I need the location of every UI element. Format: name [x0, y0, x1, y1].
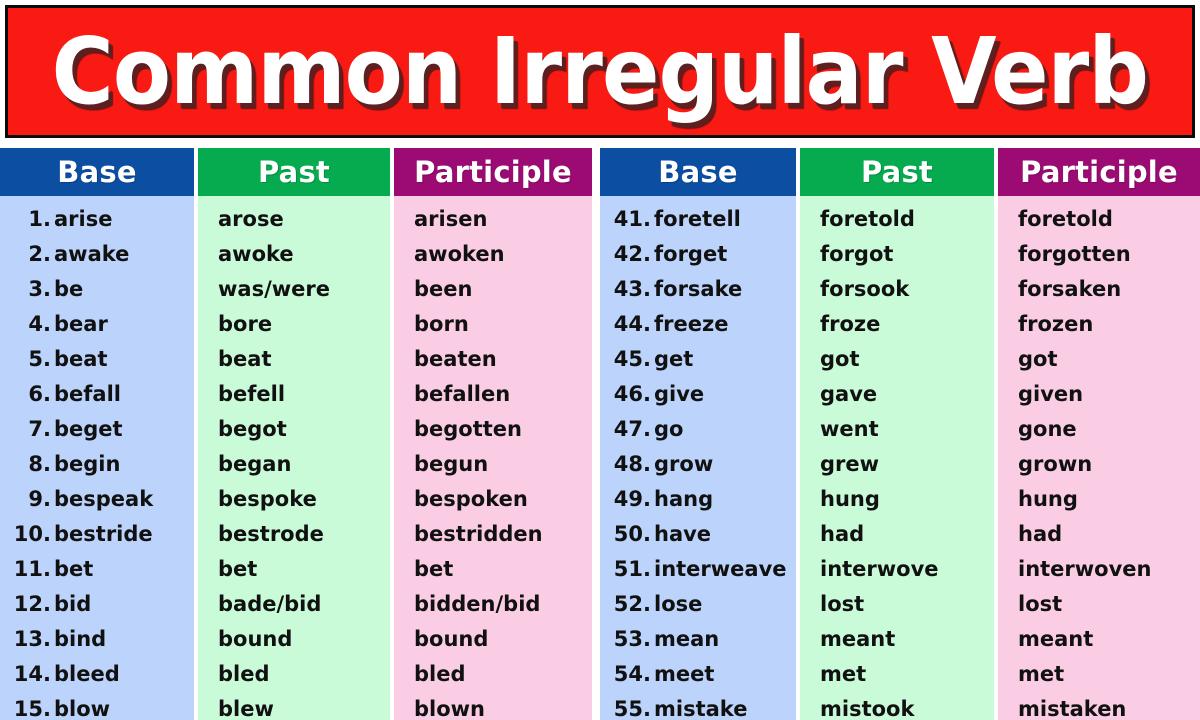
table-row: given: [998, 376, 1200, 411]
verb-past: hung: [820, 487, 880, 511]
verb-base: blow: [54, 697, 110, 720]
verb-past: went: [820, 417, 879, 441]
table-row: met: [800, 656, 994, 691]
right-column-participle: Participle foretoldforgottenforsakenfroz…: [998, 148, 1200, 720]
verb-past: meant: [820, 627, 895, 651]
verb-participle: blown: [414, 697, 485, 720]
table-row: 9.bespeak: [0, 481, 194, 516]
row-number: 51.: [608, 557, 654, 581]
verb-base: lose: [654, 592, 702, 616]
verb-past: forsook: [820, 277, 909, 301]
table-row: got: [998, 341, 1200, 376]
table-row: lost: [998, 586, 1200, 621]
verb-participle: bled: [414, 662, 466, 686]
row-number: 45.: [608, 347, 654, 371]
verb-base: mean: [654, 627, 719, 651]
verb-participle: bound: [414, 627, 488, 651]
verb-past: bet: [218, 557, 257, 581]
verb-participle: gone: [1018, 417, 1077, 441]
right-header-participle: Participle: [998, 148, 1200, 196]
verb-base: grow: [654, 452, 713, 476]
table-row: gave: [800, 376, 994, 411]
row-number: 47.: [608, 417, 654, 441]
verb-base: get: [654, 347, 693, 371]
row-number: 4.: [8, 312, 54, 336]
verb-base: foretell: [654, 207, 741, 231]
table-row: arose: [198, 201, 390, 236]
right-column-past: Past foretoldforgotforsookfrozegotgavewe…: [800, 148, 994, 720]
table-row: been: [394, 271, 592, 306]
right-body-base[interactable]: 41.foretell42.forget43.forsake44.freeze4…: [600, 196, 796, 720]
row-number: 14.: [8, 662, 54, 686]
verb-past: mistook: [820, 697, 914, 720]
table-row: meant: [800, 621, 994, 656]
verb-past: bore: [218, 312, 272, 336]
row-number: 10.: [8, 522, 54, 546]
row-number: 7.: [8, 417, 54, 441]
row-number: 52.: [608, 592, 654, 616]
table-row: began: [198, 446, 390, 481]
verb-participle: lost: [1018, 592, 1062, 616]
verb-past: had: [820, 522, 864, 546]
row-number: 8.: [8, 452, 54, 476]
verb-base: forget: [654, 242, 727, 266]
table-row: bestridden: [394, 516, 592, 551]
table-row: froze: [800, 306, 994, 341]
verb-past: met: [820, 662, 866, 686]
table-row: grew: [800, 446, 994, 481]
verb-participle: bestridden: [414, 522, 543, 546]
verb-base: beat: [54, 347, 107, 371]
table-row: beat: [198, 341, 390, 376]
table-row: 52.lose: [600, 586, 796, 621]
verb-past: froze: [820, 312, 880, 336]
verb-participle: awoken: [414, 242, 505, 266]
row-number: 6.: [8, 382, 54, 406]
table-row: bespoken: [394, 481, 592, 516]
verb-past: befell: [218, 382, 285, 406]
table-row: begot: [198, 411, 390, 446]
table-row: bound: [198, 621, 390, 656]
table-row: bet: [198, 551, 390, 586]
table-row: forgot: [800, 236, 994, 271]
verb-base: go: [654, 417, 683, 441]
table-row: foretold: [800, 201, 994, 236]
verb-base: hang: [654, 487, 713, 511]
table-row: 10.bestride: [0, 516, 194, 551]
table-row: 7.beget: [0, 411, 194, 446]
table-row: bet: [394, 551, 592, 586]
table-row: bore: [198, 306, 390, 341]
verb-participle: had: [1018, 522, 1062, 546]
right-body-past[interactable]: foretoldforgotforsookfrozegotgavewentgre…: [800, 196, 994, 720]
verb-participle: mistaken: [1018, 697, 1126, 720]
verb-participle: forsaken: [1018, 277, 1121, 301]
table-row: 41.foretell: [600, 201, 796, 236]
table-row: 13.bind: [0, 621, 194, 656]
verb-tables: Base 1.arise2.awake3.be4.bear5.beat6.bef…: [0, 148, 1200, 720]
table-row: 46.give: [600, 376, 796, 411]
table-row: 51.interweave: [600, 551, 796, 586]
verb-participle: interwoven: [1018, 557, 1152, 581]
table-row: begotten: [394, 411, 592, 446]
table-row: bidden/bid: [394, 586, 592, 621]
row-number: 12.: [8, 592, 54, 616]
table-row: interwoven: [998, 551, 1200, 586]
right-verb-table: Base 41.foretell42.forget43.forsake44.fr…: [600, 148, 1200, 720]
verb-base: interweave: [654, 557, 787, 581]
table-row: arisen: [394, 201, 592, 236]
verb-base: befall: [54, 382, 121, 406]
table-row: got: [800, 341, 994, 376]
table-row: blown: [394, 691, 592, 720]
table-row: 49.hang: [600, 481, 796, 516]
verb-base: bear: [54, 312, 108, 336]
verb-participle: frozen: [1018, 312, 1093, 336]
verb-participle: begotten: [414, 417, 522, 441]
table-row: 8.begin: [0, 446, 194, 481]
verb-participle: bet: [414, 557, 453, 581]
verb-participle: bidden/bid: [414, 592, 540, 616]
table-row: frozen: [998, 306, 1200, 341]
verb-past: gave: [820, 382, 877, 406]
verb-past: bade/bid: [218, 592, 321, 616]
verb-past: bled: [218, 662, 270, 686]
verb-past: arose: [218, 207, 284, 231]
verb-participle: grown: [1018, 452, 1092, 476]
verb-past: bespoke: [218, 487, 317, 511]
table-row: forsook: [800, 271, 994, 306]
table-row: awoken: [394, 236, 592, 271]
table-row: 15.blow: [0, 691, 194, 720]
table-row: bespoke: [198, 481, 390, 516]
table-row: born: [394, 306, 592, 341]
left-header-base: Base: [0, 148, 194, 196]
verb-base: begin: [54, 452, 120, 476]
left-header-past: Past: [198, 148, 390, 196]
table-row: befallen: [394, 376, 592, 411]
table-row: bled: [198, 656, 390, 691]
verb-base: have: [654, 522, 711, 546]
right-header-past: Past: [800, 148, 994, 196]
row-number: 50.: [608, 522, 654, 546]
table-row: lost: [800, 586, 994, 621]
verb-past: grew: [820, 452, 879, 476]
table-row: forsaken: [998, 271, 1200, 306]
verb-participle: bespoken: [414, 487, 528, 511]
verb-participle: forgotten: [1018, 242, 1131, 266]
verb-base: awake: [54, 242, 129, 266]
table-row: bound: [394, 621, 592, 656]
verb-past: interwove: [820, 557, 939, 581]
left-column-past: Past aroseawokewas/wereborebeatbefellbeg…: [198, 148, 390, 720]
verb-past: begot: [218, 417, 287, 441]
verb-participle: meant: [1018, 627, 1093, 651]
table-row: interwove: [800, 551, 994, 586]
verb-base: freeze: [654, 312, 728, 336]
verb-participle: been: [414, 277, 472, 301]
left-body-base[interactable]: 1.arise2.awake3.be4.bear5.beat6.befall7.…: [0, 196, 194, 720]
table-row: 45.get: [600, 341, 796, 376]
left-body-participle[interactable]: arisenawokenbeenbornbeatenbefallenbegott…: [394, 196, 592, 720]
table-row: 12.bid: [0, 586, 194, 621]
verb-base: bid: [54, 592, 91, 616]
table-row: 44.freeze: [600, 306, 796, 341]
table-row: 54.meet: [600, 656, 796, 691]
table-row: mistaken: [998, 691, 1200, 720]
verb-base: forsake: [654, 277, 742, 301]
left-column-participle: Participle arisenawokenbeenbornbeatenbef…: [394, 148, 592, 720]
row-number: 44.: [608, 312, 654, 336]
table-row: awoke: [198, 236, 390, 271]
table-row: went: [800, 411, 994, 446]
table-row: had: [800, 516, 994, 551]
table-row: forgotten: [998, 236, 1200, 271]
table-row: 1.arise: [0, 201, 194, 236]
verb-participle: hung: [1018, 487, 1078, 511]
page-title: Common Irregular Verb: [52, 26, 1148, 118]
row-number: 54.: [608, 662, 654, 686]
verb-participle: beaten: [414, 347, 497, 371]
verb-participle: begun: [414, 452, 488, 476]
table-row: bade/bid: [198, 586, 390, 621]
verb-participle: befallen: [414, 382, 510, 406]
table-row: befell: [198, 376, 390, 411]
row-number: 11.: [8, 557, 54, 581]
verb-base: be: [54, 277, 83, 301]
row-number: 41.: [608, 207, 654, 231]
row-number: 48.: [608, 452, 654, 476]
table-row: was/were: [198, 271, 390, 306]
table-row: bled: [394, 656, 592, 691]
verb-past: bound: [218, 627, 292, 651]
left-verb-table: Base 1.arise2.awake3.be4.bear5.beat6.bef…: [0, 148, 592, 720]
table-row: hung: [800, 481, 994, 516]
table-row: mistook: [800, 691, 994, 720]
table-row: 43.forsake: [600, 271, 796, 306]
row-number: 53.: [608, 627, 654, 651]
verb-past: began: [218, 452, 291, 476]
row-number: 5.: [8, 347, 54, 371]
row-number: 43.: [608, 277, 654, 301]
right-header-base: Base: [600, 148, 796, 196]
verb-past: lost: [820, 592, 864, 616]
table-row: 11.bet: [0, 551, 194, 586]
table-row: 2.awake: [0, 236, 194, 271]
right-column-base: Base 41.foretell42.forget43.forsake44.fr…: [600, 148, 796, 720]
row-number: 3.: [8, 277, 54, 301]
table-divider: [592, 148, 600, 720]
table-row: 5.beat: [0, 341, 194, 376]
table-row: 48.grow: [600, 446, 796, 481]
table-row: met: [998, 656, 1200, 691]
table-row: 42.forget: [600, 236, 796, 271]
table-row: blew: [198, 691, 390, 720]
row-number: 2.: [8, 242, 54, 266]
verb-base: arise: [54, 207, 112, 231]
verb-past: foretold: [820, 207, 915, 231]
table-row: 3.be: [0, 271, 194, 306]
row-number: 13.: [8, 627, 54, 651]
table-row: gone: [998, 411, 1200, 446]
verb-past: forgot: [820, 242, 893, 266]
verb-participle: given: [1018, 382, 1083, 406]
table-row: foretold: [998, 201, 1200, 236]
row-number: 9.: [8, 487, 54, 511]
table-row: meant: [998, 621, 1200, 656]
verb-past: awoke: [218, 242, 294, 266]
verb-participle: met: [1018, 662, 1064, 686]
verb-past: got: [820, 347, 860, 371]
verb-base: mistake: [654, 697, 747, 720]
verb-past: bestrode: [218, 522, 324, 546]
table-row: 47.go: [600, 411, 796, 446]
page-root: Common Irregular Verb Base 1.arise2.awak…: [0, 0, 1200, 720]
right-body-participle[interactable]: foretoldforgottenforsakenfrozengotgiveng…: [998, 196, 1200, 720]
verb-participle: born: [414, 312, 469, 336]
verb-base: beget: [54, 417, 123, 441]
row-number: 1.: [8, 207, 54, 231]
row-number: 46.: [608, 382, 654, 406]
table-row: hung: [998, 481, 1200, 516]
verb-base: bestride: [54, 522, 153, 546]
left-column-base: Base 1.arise2.awake3.be4.bear5.beat6.bef…: [0, 148, 194, 720]
verb-base: bet: [54, 557, 93, 581]
verb-base: bespeak: [54, 487, 153, 511]
table-row: beaten: [394, 341, 592, 376]
row-number: 42.: [608, 242, 654, 266]
verb-past: blew: [218, 697, 274, 720]
verb-participle: got: [1018, 347, 1058, 371]
row-number: 15.: [8, 697, 54, 720]
table-row: had: [998, 516, 1200, 551]
title-banner: Common Irregular Verb: [5, 5, 1195, 138]
table-row: 14.bleed: [0, 656, 194, 691]
left-header-participle: Participle: [394, 148, 592, 196]
verb-past: beat: [218, 347, 271, 371]
table-row: grown: [998, 446, 1200, 481]
table-row: begun: [394, 446, 592, 481]
verb-past: was/were: [218, 277, 330, 301]
table-row: 4.bear: [0, 306, 194, 341]
verb-base: bleed: [54, 662, 120, 686]
table-row: bestrode: [198, 516, 390, 551]
table-row: 6.befall: [0, 376, 194, 411]
row-number: 49.: [608, 487, 654, 511]
verb-participle: foretold: [1018, 207, 1113, 231]
table-row: 53.mean: [600, 621, 796, 656]
verb-participle: arisen: [414, 207, 487, 231]
verb-base: give: [654, 382, 704, 406]
verb-base: meet: [654, 662, 714, 686]
verb-base: bind: [54, 627, 106, 651]
row-number: 55.: [608, 697, 654, 720]
table-row: 50.have: [600, 516, 796, 551]
table-row: 55.mistake: [600, 691, 796, 720]
left-body-past[interactable]: aroseawokewas/wereborebeatbefellbegotbeg…: [198, 196, 390, 720]
